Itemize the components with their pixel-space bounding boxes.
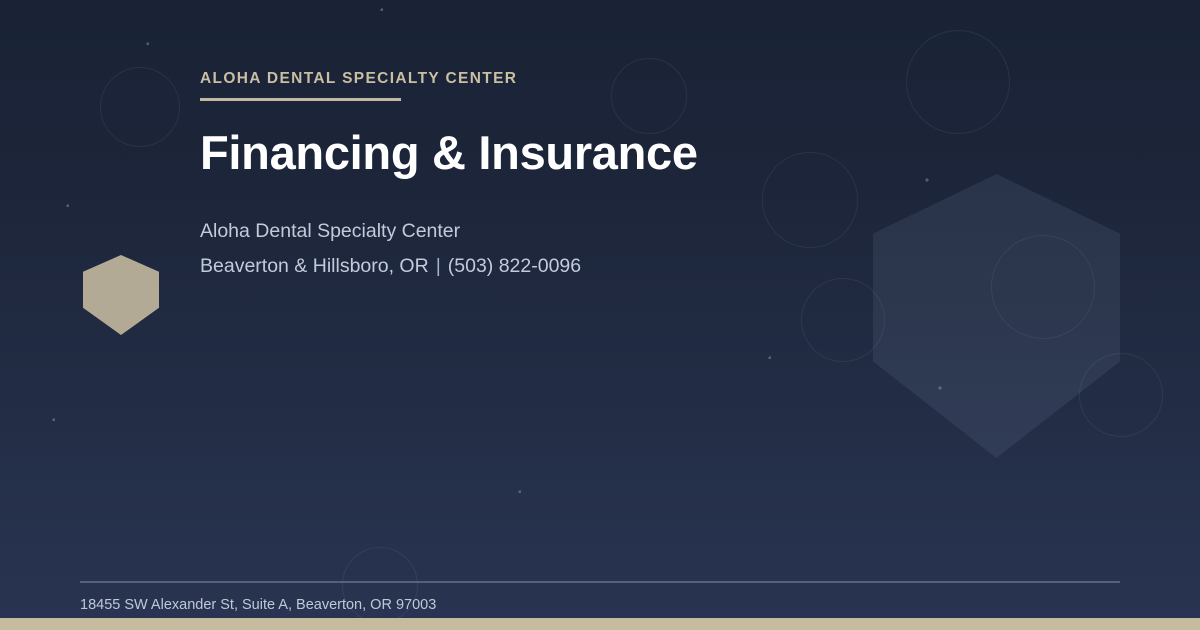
card-content: ALOHA DENTAL SPECIALTY CENTER Financing … bbox=[200, 70, 960, 281]
brand-eyebrow: ALOHA DENTAL SPECIALTY CENTER bbox=[200, 70, 960, 89]
locations-and-phone: Beaverton & Hillsboro, OR|(503) 822-0096 bbox=[200, 252, 960, 281]
decorative-circle bbox=[100, 67, 180, 147]
page-title: Financing & Insurance bbox=[200, 127, 960, 180]
locations-text: Beaverton & Hillsboro, OR bbox=[200, 255, 429, 277]
bottom-accent-bar bbox=[0, 618, 1200, 630]
eyebrow-underline-rule bbox=[200, 98, 401, 101]
subtitle-block: Aloha Dental Specialty Center Beaverton … bbox=[200, 217, 960, 281]
sparkle-icon bbox=[52, 418, 55, 421]
footer-divider bbox=[80, 581, 1120, 583]
footer-address: 18455 SW Alexander St, Suite A, Beaverto… bbox=[80, 595, 436, 615]
text-separator: | bbox=[429, 255, 448, 277]
decorative-circle bbox=[801, 278, 885, 362]
sparkle-icon bbox=[380, 8, 383, 11]
sparkle-icon bbox=[146, 42, 149, 45]
sparkle-icon bbox=[518, 490, 521, 493]
sparkle-icon bbox=[66, 204, 69, 207]
social-card: ALOHA DENTAL SPECIALTY CENTER Financing … bbox=[0, 0, 1200, 630]
sparkle-icon bbox=[768, 356, 771, 359]
phone-number: (503) 822-0096 bbox=[448, 255, 581, 277]
practice-name: Aloha Dental Specialty Center bbox=[200, 217, 960, 246]
shield-icon-small bbox=[83, 255, 159, 335]
